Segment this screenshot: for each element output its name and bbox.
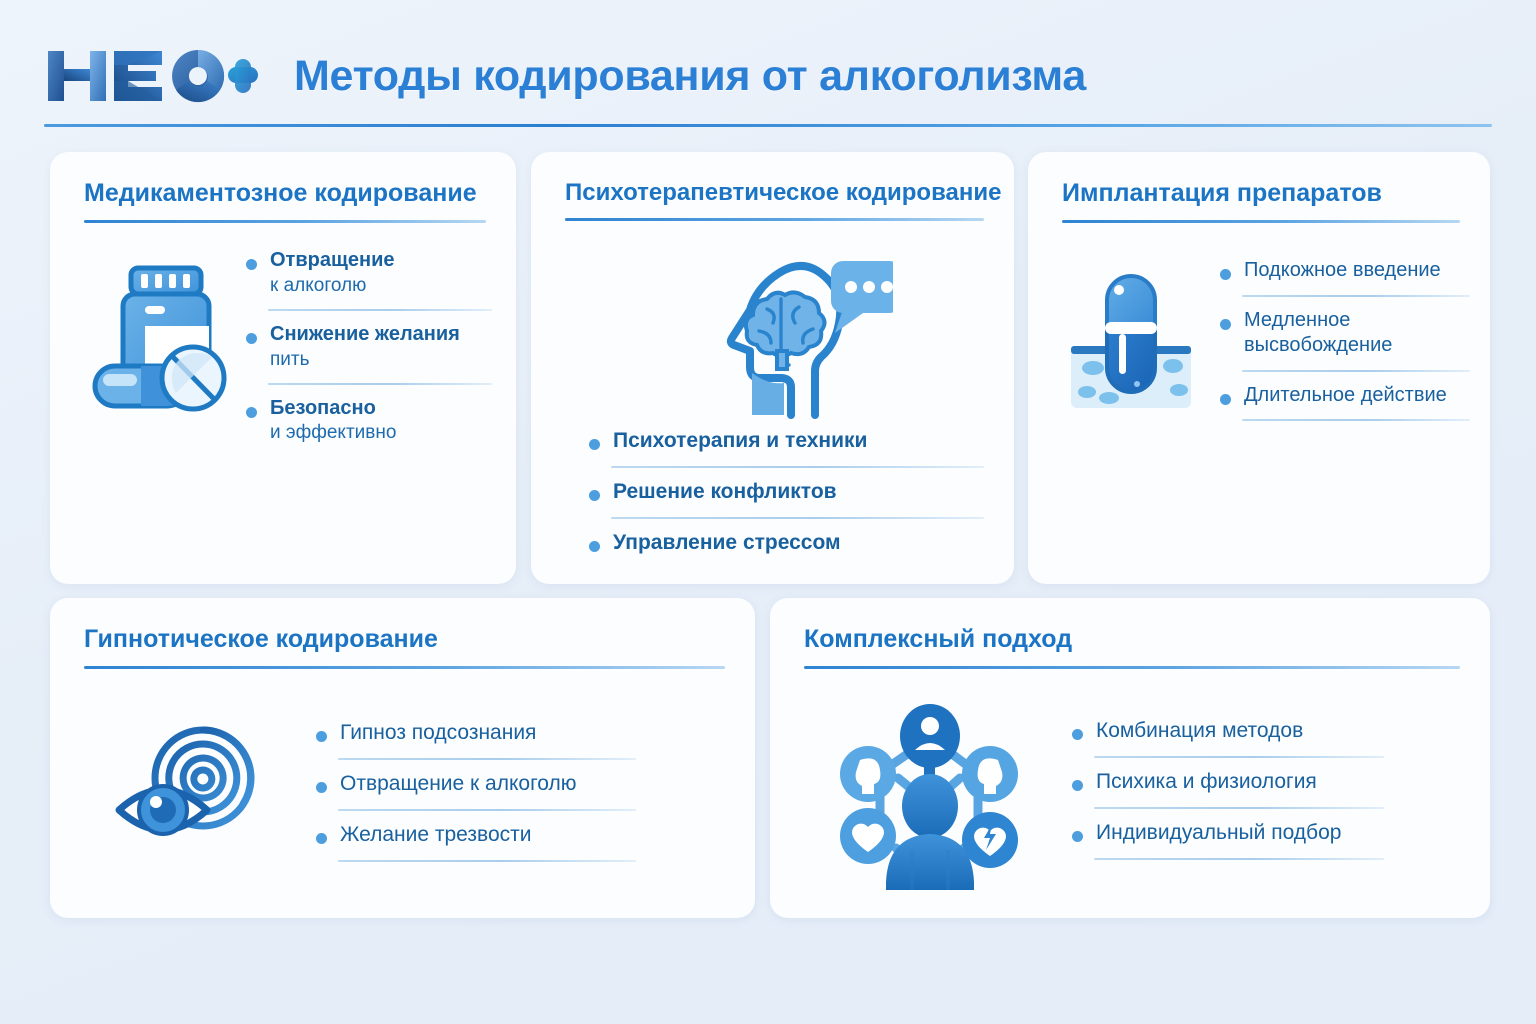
item-main-text: Управление стрессом — [613, 530, 984, 557]
bullet-dot-icon — [246, 333, 257, 344]
bullet-dot-icon — [1072, 780, 1083, 791]
bullet-dot-icon — [316, 833, 327, 844]
icon-container — [1056, 244, 1206, 432]
bullet-dot-icon — [1220, 319, 1231, 330]
list-item[interactable]: Подкожное введение — [1218, 258, 1470, 284]
item-main-text: Желание трезвости — [340, 822, 636, 849]
card-header: Имплантация препаратов — [1062, 180, 1460, 223]
card-title-underline — [84, 220, 486, 223]
card-complex-approach[interactable]: Комплексный подход — [770, 598, 1490, 918]
card-title: Имплантация препаратов — [1062, 180, 1460, 208]
item-main-text: Решение конфликтов — [613, 479, 984, 506]
item-divider — [1094, 858, 1384, 860]
card-title: Медикаментозное кодирование — [84, 180, 486, 208]
page-title: Методы кодирования от алкоголизма — [294, 52, 1086, 101]
icon-container — [804, 690, 1054, 890]
list-item[interactable]: Отвращение к алкоголю — [244, 248, 492, 298]
list-item[interactable]: Решение конфликтов — [587, 479, 984, 506]
list-item[interactable]: Психотерапия и техники — [587, 428, 984, 455]
bullet-dot-icon — [589, 439, 600, 450]
item-divider — [1094, 756, 1384, 758]
hypnosis-spiral-eye-icon — [111, 714, 271, 854]
item-divider — [268, 383, 492, 385]
page-header: Методы кодирования от алкоголизма — [46, 30, 1490, 122]
list-item[interactable]: Безопасно и эффективно — [244, 396, 492, 446]
list-item[interactable]: Управление стрессом — [587, 530, 984, 557]
card-medication-coding[interactable]: Медикаментозное кодирование — [50, 152, 516, 584]
item-main-text: Безопасно — [270, 396, 492, 422]
card-title-underline — [84, 666, 725, 669]
item-divider — [1242, 419, 1470, 421]
bullet-list: Психотерапия и техники Решение конфликто… — [571, 422, 984, 557]
head-brain-speech-icon — [663, 247, 893, 419]
header-divider — [44, 124, 1492, 127]
card-header: Комплексный подход — [804, 626, 1460, 669]
list-item[interactable]: Индивидуальный подбор — [1070, 820, 1384, 847]
item-main-text: Психика и физиология — [1096, 769, 1384, 796]
bullet-list: Комбинация методов Психика и физиология … — [1054, 690, 1384, 890]
bullet-list: Гипноз подсознания Отвращение к алкоголю… — [296, 694, 636, 873]
bullet-dot-icon — [1220, 394, 1231, 405]
infographic-sheet: Методы кодирования от алкоголизма Медика… — [0, 0, 1536, 1024]
item-sub-text: пить — [270, 348, 492, 372]
card-title-underline — [804, 666, 1460, 669]
card-body: Психотерапия и техники Решение конфликто… — [571, 244, 984, 557]
bullet-list: Подкожное введение Медленное высвобожден… — [1206, 244, 1470, 432]
item-sub-text: к алкоголю — [270, 274, 492, 298]
card-body: Отвращение к алкоголю Снижение желания п… — [84, 248, 492, 446]
bullet-dot-icon — [589, 490, 600, 501]
item-divider — [338, 809, 636, 811]
item-main-text: Психотерапия и техники — [613, 428, 984, 455]
item-main-text: Гипноз подсознания — [340, 720, 636, 747]
card-title: Комплексный подход — [804, 626, 1460, 654]
card-body: Гипноз подсознания Отвращение к алкоголю… — [86, 694, 731, 873]
card-title: Гипнотическое кодирование — [84, 626, 725, 654]
list-item[interactable]: Отвращение к алкоголю — [314, 771, 636, 798]
bullet-dot-icon — [316, 731, 327, 742]
item-divider — [338, 860, 636, 862]
bullet-dot-icon — [1072, 831, 1083, 842]
item-sub-text: высвобождение — [1244, 333, 1470, 359]
item-divider — [1242, 295, 1470, 297]
neo-plus-logo — [46, 45, 258, 107]
item-main-text: Отвращение — [270, 248, 492, 274]
list-item[interactable]: Медленное высвобождение — [1218, 308, 1470, 359]
list-item[interactable]: Психика и физиология — [1070, 769, 1384, 796]
pill-bottle-icon — [87, 262, 233, 412]
bullet-list: Отвращение к алкоголю Снижение желания п… — [236, 248, 492, 446]
list-item[interactable]: Комбинация методов — [1070, 718, 1384, 745]
card-body: Подкожное введение Медленное высвобожден… — [1056, 244, 1470, 432]
icon-container — [571, 244, 984, 422]
item-divider — [1094, 807, 1384, 809]
card-implantation[interactable]: Имплантация препаратов — [1028, 152, 1490, 584]
card-body: Комбинация методов Психика и физиология … — [804, 690, 1466, 890]
item-main-text: Медленное — [1244, 308, 1470, 334]
icon-container — [86, 694, 296, 873]
item-main-text: Комбинация методов — [1096, 718, 1384, 745]
item-sub-text: и эффективно — [270, 421, 492, 445]
bullet-dot-icon — [246, 407, 257, 418]
item-main-text: Подкожное введение — [1244, 258, 1470, 284]
list-item[interactable]: Желание трезвости — [314, 822, 636, 849]
card-title-underline — [1062, 220, 1460, 223]
bullet-dot-icon — [246, 259, 257, 270]
person-network-icon — [824, 700, 1034, 890]
card-header: Психотерапевтическое кодирование — [565, 180, 984, 221]
item-divider — [268, 309, 492, 311]
item-main-text: Длительное действие — [1244, 383, 1470, 409]
list-item[interactable]: Снижение желания пить — [244, 322, 492, 372]
item-main-text: Индивидуальный подбор — [1096, 820, 1384, 847]
item-divider — [611, 517, 984, 519]
item-divider — [611, 466, 984, 468]
card-header: Гипнотическое кодирование — [84, 626, 725, 669]
item-divider — [338, 758, 636, 760]
bullet-dot-icon — [316, 782, 327, 793]
card-hypnotic-coding[interactable]: Гипнотическое кодирование — [50, 598, 755, 918]
list-item[interactable]: Гипноз подсознания — [314, 720, 636, 747]
implant-capsule-icon — [1061, 262, 1201, 412]
bullet-dot-icon — [589, 541, 600, 552]
bullet-dot-icon — [1220, 269, 1231, 280]
bullet-dot-icon — [1072, 729, 1083, 740]
item-main-text: Отвращение к алкоголю — [340, 771, 636, 798]
card-title: Психотерапевтическое кодирование — [565, 180, 984, 206]
card-title-underline — [565, 218, 984, 221]
card-header: Медикаментозное кодирование — [84, 180, 486, 223]
list-item[interactable]: Длительное действие — [1218, 383, 1470, 409]
card-psychotherapy-coding[interactable]: Психотерапевтическое кодирование — [531, 152, 1014, 584]
icon-container — [84, 248, 236, 446]
item-main-text: Снижение желания — [270, 322, 492, 348]
item-divider — [1242, 370, 1470, 372]
